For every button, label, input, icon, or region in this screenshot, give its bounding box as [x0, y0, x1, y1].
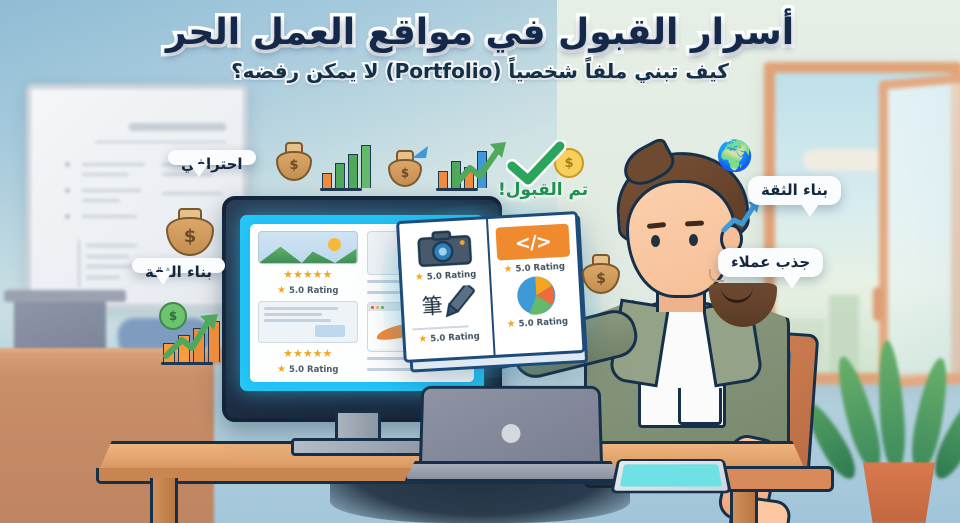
book-rating-pen: ★ 5.0 Rating	[412, 330, 486, 345]
camera-icon	[407, 229, 482, 269]
rating-label-2: 5.0 Rating	[289, 365, 338, 375]
star-icon: ★	[277, 364, 286, 375]
shirt-pocket	[678, 388, 722, 425]
rating-label: 5.0 Rating	[430, 331, 480, 344]
text-card-icon	[258, 301, 358, 343]
portfolio-book[interactable]: ★ 5.0 Rating 筆 ★ 5.0 Rating	[394, 211, 588, 371]
background-laptop	[14, 296, 106, 354]
laptop-logo	[501, 424, 520, 443]
bubble-trust-right: بناء الثقة	[748, 176, 841, 205]
monitor-foot	[291, 438, 425, 456]
code-brackets-icon: </>	[495, 224, 570, 261]
money-bag-icon: $	[582, 254, 616, 288]
bubble-professional: احترافي	[168, 150, 256, 165]
star-rating-2: ★★★★★	[258, 348, 358, 359]
book-page-left: ★ 5.0 Rating 筆 ★ 5.0 Rating	[399, 219, 495, 360]
rating-label: 5.0 Rating	[427, 269, 477, 282]
window-sash	[879, 73, 960, 389]
star-icon: ★	[418, 334, 428, 345]
rating-label: 5.0 Rating	[518, 316, 568, 329]
rating-row: ★ 5.0 Rating	[258, 285, 358, 296]
accepted-badge-label: تم القبول!	[498, 180, 588, 200]
money-bag-icon: $	[166, 208, 210, 252]
arrow-small-blue-icon	[410, 144, 432, 162]
pen-icon: 筆	[410, 283, 485, 323]
coin-green-icon: $	[159, 302, 187, 330]
star-icon: ★	[503, 264, 513, 275]
image-thumbnail-icon	[258, 231, 358, 264]
rating-row-2: ★ 5.0 Rating	[258, 364, 358, 375]
tablet[interactable]	[610, 459, 732, 493]
star-icon: ★	[506, 319, 516, 330]
laptop-base	[404, 461, 622, 482]
page-title: أسرار القبول في مواقع العمل الحر	[0, 12, 960, 53]
bubble-attract-clients-label: جذب عملاء	[731, 253, 810, 271]
cloud-shape	[803, 149, 887, 171]
window-handle	[873, 287, 882, 321]
background-desk	[0, 352, 214, 523]
book-rating-camera: ★ 5.0 Rating	[409, 268, 483, 283]
globe-icon: 🌍	[716, 142, 753, 172]
svg-text:筆: 筆	[421, 294, 443, 319]
star-rating: ★★★★★	[258, 269, 358, 280]
scene-root: ★★★★★ ★ 5.0 Rating ★★★★★ ★ 5.0 Rating	[0, 0, 960, 523]
money-bag-icon: $	[276, 142, 308, 174]
bubble-trust-left: بناء الثقة	[132, 258, 225, 273]
bar-chart-green-icon	[322, 146, 371, 188]
background-laptop-base	[4, 290, 126, 302]
tablet-screen[interactable]	[620, 464, 722, 486]
bubble-trust-left-label: بناء الثقة	[145, 263, 212, 281]
desk-leg-left	[150, 478, 178, 523]
bubble-professional-label: احترافي	[181, 155, 243, 173]
page-subtitle: كيف تبني ملفاً شخصياً (Portfolio) لا يمك…	[0, 59, 960, 83]
bubble-trust-right-label: بناء الثقة	[761, 181, 828, 199]
star-icon: ★	[277, 285, 286, 296]
book-rating-pie: ★ 5.0 Rating	[501, 315, 575, 330]
whiteboard-rule	[95, 141, 226, 143]
rating-label: 5.0 Rating	[289, 286, 338, 296]
book-page-right: </> ★ 5.0 Rating ★ 5.0 Rating	[488, 214, 582, 355]
office-chair-seat	[716, 466, 834, 492]
star-icon: ★	[415, 272, 425, 283]
bubble-attract-clients: جذب عملاء	[718, 248, 823, 277]
whiteboard	[26, 84, 248, 309]
whiteboard-title-bar	[129, 123, 227, 131]
pie-chart-icon	[498, 275, 573, 315]
header: أسرار القبول في مواقع العمل الحر كيف تبن…	[0, 12, 960, 83]
